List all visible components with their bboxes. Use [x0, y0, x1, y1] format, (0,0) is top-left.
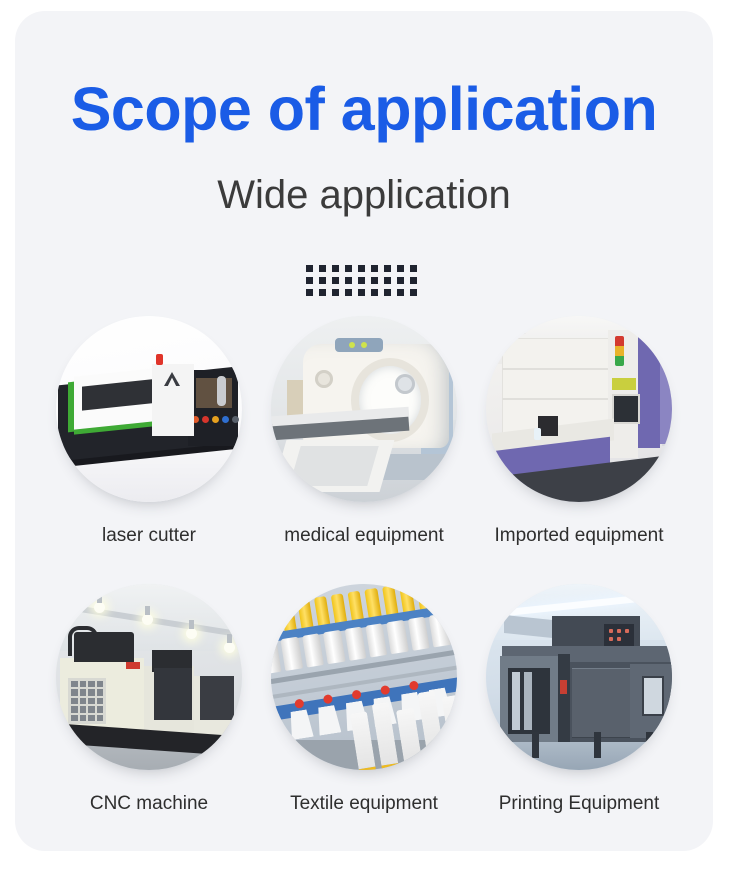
- ornament-dot: [384, 265, 391, 272]
- application-item-laser-cutter[interactable]: laser cutter: [55, 316, 243, 548]
- ornament-dot: [358, 277, 365, 284]
- page-subtitle: Wide application: [15, 169, 713, 221]
- press-control-keypad: [604, 624, 634, 646]
- application-item-cnc-machine[interactable]: CNC machine: [55, 584, 243, 816]
- dot-grid-ornament: [15, 263, 713, 299]
- ornament-dot: [319, 277, 326, 284]
- laser-cutter-led-row: [192, 416, 239, 423]
- ornament-dot: [384, 289, 391, 296]
- printing-press-photo[interactable]: [486, 584, 672, 770]
- hmi-screen: [612, 394, 640, 424]
- ornament-dot: [332, 265, 339, 272]
- ct-scanner-photo[interactable]: [271, 316, 457, 502]
- ornament-dot: [332, 289, 339, 296]
- ornament-dot: [319, 265, 326, 272]
- laser-cutter-photo[interactable]: [56, 316, 242, 502]
- ornament-dot: [397, 277, 404, 284]
- scanner-control-panel: [335, 338, 383, 352]
- ornament-dot: [410, 289, 417, 296]
- page-root: Scope of application Wide application: [0, 0, 750, 873]
- application-caption: Printing Equipment: [499, 792, 660, 816]
- page-title: Scope of application: [15, 73, 713, 145]
- application-grid: laser cutter: [15, 316, 713, 816]
- application-item-medical-equipment[interactable]: medical equipment: [270, 316, 458, 548]
- ornament-dot: [371, 289, 378, 296]
- application-caption: Imported equipment: [495, 524, 664, 548]
- cnc-vent-grille: [68, 678, 106, 724]
- dot-grid-inner: [306, 263, 423, 299]
- application-item-imported-equipment[interactable]: Imported equipment: [485, 316, 673, 548]
- application-caption: Textile equipment: [290, 792, 438, 816]
- ornament-dot: [384, 277, 391, 284]
- ornament-dot: [345, 277, 352, 284]
- ornament-dot: [358, 289, 365, 296]
- status-lamp-icon: [156, 354, 163, 365]
- application-caption: medical equipment: [284, 524, 443, 548]
- application-item-textile-equipment[interactable]: Textile equipment: [270, 584, 458, 816]
- ornament-dot: [358, 265, 365, 272]
- ornament-dot: [306, 265, 313, 272]
- ornament-dot: [345, 289, 352, 296]
- ornament-dot: [397, 289, 404, 296]
- ornament-dot: [371, 277, 378, 284]
- application-row-2: CNC machine: [15, 584, 713, 816]
- textile-machine-photo[interactable]: [271, 584, 457, 770]
- press-display: [642, 676, 664, 716]
- ornament-dot: [410, 277, 417, 284]
- semiconductor-equipment-photo[interactable]: [486, 316, 672, 502]
- ornament-dot: [306, 289, 313, 296]
- ornament-dot: [306, 277, 313, 284]
- stack-light-icon: [615, 336, 624, 366]
- ornament-dot: [397, 265, 404, 272]
- ornament-dot: [345, 265, 352, 272]
- ornament-dot: [319, 289, 326, 296]
- ornament-dot: [371, 265, 378, 272]
- emergency-stop-icon: [560, 680, 567, 694]
- application-item-printing-equipment[interactable]: Printing Equipment: [485, 584, 673, 816]
- cnc-machine-photo[interactable]: [56, 584, 242, 770]
- application-caption: CNC machine: [90, 792, 208, 816]
- ornament-dot: [332, 277, 339, 284]
- ornament-dot: [410, 265, 417, 272]
- application-row-1: laser cutter: [15, 316, 713, 548]
- application-caption: laser cutter: [102, 524, 196, 548]
- application-scope-card: Scope of application Wide application: [15, 11, 713, 851]
